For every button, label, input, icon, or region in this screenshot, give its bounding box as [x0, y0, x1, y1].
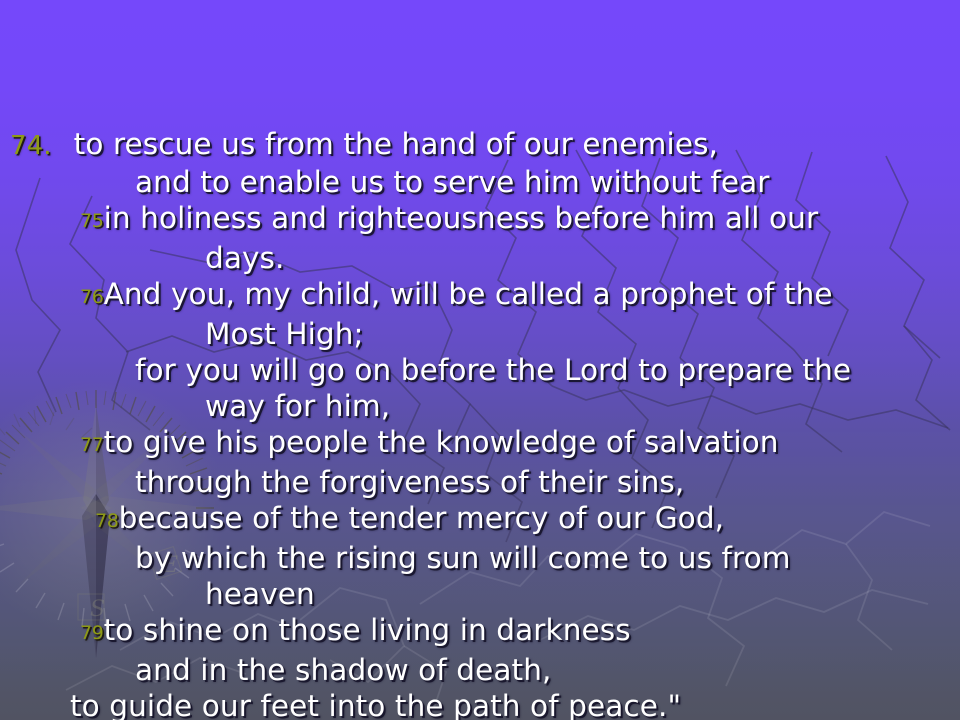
- verse-text: in holiness and righteousness before him…: [104, 201, 819, 235]
- verse-line: through the forgiveness of their sins,: [10, 464, 952, 500]
- verse-line: days.: [10, 240, 952, 276]
- scripture-text-block: 74.to rescue us from the hand of our ene…: [0, 126, 960, 720]
- verse-number: 79: [80, 622, 104, 644]
- verse-line: Most High;: [10, 316, 952, 352]
- verse-number: 75: [80, 210, 104, 232]
- verse-text: and to enable us to serve him without fe…: [135, 165, 770, 199]
- verse-line: and to enable us to serve him without fe…: [10, 164, 952, 200]
- verse-text: to guide our feet into the path of peace…: [70, 689, 681, 720]
- verse-text: by which the rising sun will come to us …: [135, 541, 791, 575]
- verse-line: by which the rising sun will come to us …: [10, 540, 952, 576]
- verse-text: to rescue us from the hand of our enemie…: [74, 127, 718, 161]
- verse-number: 78: [95, 510, 119, 532]
- verse-text: way for him,: [205, 389, 390, 423]
- verse-text: and in the shadow of death,: [135, 653, 551, 687]
- verse-text: because of the tender mercy of our God,: [119, 501, 725, 535]
- verse-number: 74.: [10, 131, 52, 161]
- verse-line: 74.to rescue us from the hand of our ene…: [10, 126, 952, 164]
- presentation-slide: S E 74.to resc: [0, 0, 960, 720]
- verse-text: And you, my child, will be called a prop…: [104, 277, 833, 311]
- verse-text: days.: [205, 241, 285, 275]
- verse-line: 79to shine on those living in darkness: [10, 612, 952, 652]
- verse-text: to give his people the knowledge of salv…: [104, 425, 779, 459]
- verse-line: 78because of the tender mercy of our God…: [10, 500, 952, 540]
- verse-line: 76And you, my child, will be called a pr…: [10, 276, 952, 316]
- verse-line: way for him,: [10, 388, 952, 424]
- verse-line: and in the shadow of death,: [10, 652, 952, 688]
- verse-line: to guide our feet into the path of peace…: [10, 688, 952, 720]
- verse-line: heaven: [10, 576, 952, 612]
- verse-text: heaven: [205, 577, 315, 611]
- verse-text: Most High;: [205, 317, 364, 351]
- verse-line: 77to give his people the knowledge of sa…: [10, 424, 952, 464]
- verse-line: 75in holiness and righteousness before h…: [10, 200, 952, 240]
- verse-text: for you will go on before the Lord to pr…: [135, 353, 851, 387]
- verse-text: through the forgiveness of their sins,: [135, 465, 684, 499]
- verse-text: to shine on those living in darkness: [104, 613, 631, 647]
- verse-line: for you will go on before the Lord to pr…: [10, 352, 952, 388]
- verse-number: 76: [80, 286, 104, 308]
- verse-number: 77: [80, 434, 104, 456]
